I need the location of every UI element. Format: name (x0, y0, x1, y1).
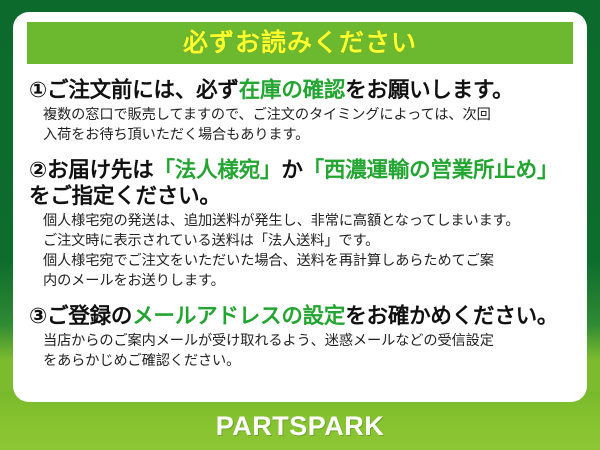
notice-item-3-heading-part-1: ご登録の (47, 304, 132, 328)
notice-item-3-heading: ③ご登録のメールアドレスの設定をお確かめください。 (29, 303, 571, 329)
notice-item-2-heading-part-1: お届け先は (47, 158, 154, 182)
header-title: 必ずお読みください (183, 31, 417, 56)
notice-card: 必ずお読みください ①ご注文前には、必ず在庫の確認をお願いします。 複数の窓口で… (13, 12, 587, 402)
notice-item-3-highlight: メールアドレスの設定 (132, 304, 345, 328)
notice-item-2-heading-part-3: か (281, 158, 302, 182)
notice-item-2: ②お届け先は「法人様宛」か「西濃運輸の営業所止め」をご指定ください。 個人様宅宛… (29, 157, 571, 292)
notice-item-1-body: 複数の窓口で販売してますので、ご注文のタイミングによっては、次回 入荷をお待ち頂… (43, 105, 571, 145)
notice-item-3-body: 当店からのご案内メールが受け取れるよう、迷惑メールなどの受信設定 をあらかじめご… (43, 331, 571, 371)
notice-item-2-highlight-2: 「西濃運輸の営業所止め」 (303, 158, 559, 182)
notice-item-2-body: 個人様宅宛の発送は、追加送料が発生し、非常に高額となってしまいます。 ご注文時に… (43, 211, 571, 292)
notice-item-1-heading-part-3: をお願いします。 (345, 78, 513, 102)
notice-item-3-heading-part-3: をお確かめください。 (345, 304, 558, 328)
notice-item-2-number: ② (29, 158, 47, 182)
notice-item-1-highlight: 在庫の確認 (239, 78, 346, 102)
notice-item-1-heading-part-1: ご注文前には、必ず (47, 78, 239, 102)
notice-item-2-highlight-1: 「法人様宛」 (154, 158, 282, 182)
notice-item-2-heading: ②お届け先は「法人様宛」か「西濃運輸の営業所止め」をご指定ください。 (29, 157, 571, 209)
notice-item-1-number: ① (29, 78, 47, 102)
brand-logo: PARTSPARK (0, 411, 600, 442)
notice-item-list: ①ご注文前には、必ず在庫の確認をお願いします。 複数の窓口で販売してますので、ご… (27, 77, 573, 371)
notice-item-1-heading: ①ご注文前には、必ず在庫の確認をお願いします。 (29, 77, 571, 103)
notice-item-3-number: ③ (29, 304, 47, 328)
notice-item-1: ①ご注文前には、必ず在庫の確認をお願いします。 複数の窓口で販売してますので、ご… (29, 77, 571, 146)
notice-item-3: ③ご登録のメールアドレスの設定をお確かめください。 当店からのご案内メールが受け… (29, 303, 571, 372)
header-bar: 必ずお読みください (27, 22, 573, 64)
notice-item-2-heading-part-5: をご指定ください。 (29, 184, 221, 208)
notice-banner: 必ずお読みください ①ご注文前には、必ず在庫の確認をお願いします。 複数の窓口で… (0, 0, 600, 450)
